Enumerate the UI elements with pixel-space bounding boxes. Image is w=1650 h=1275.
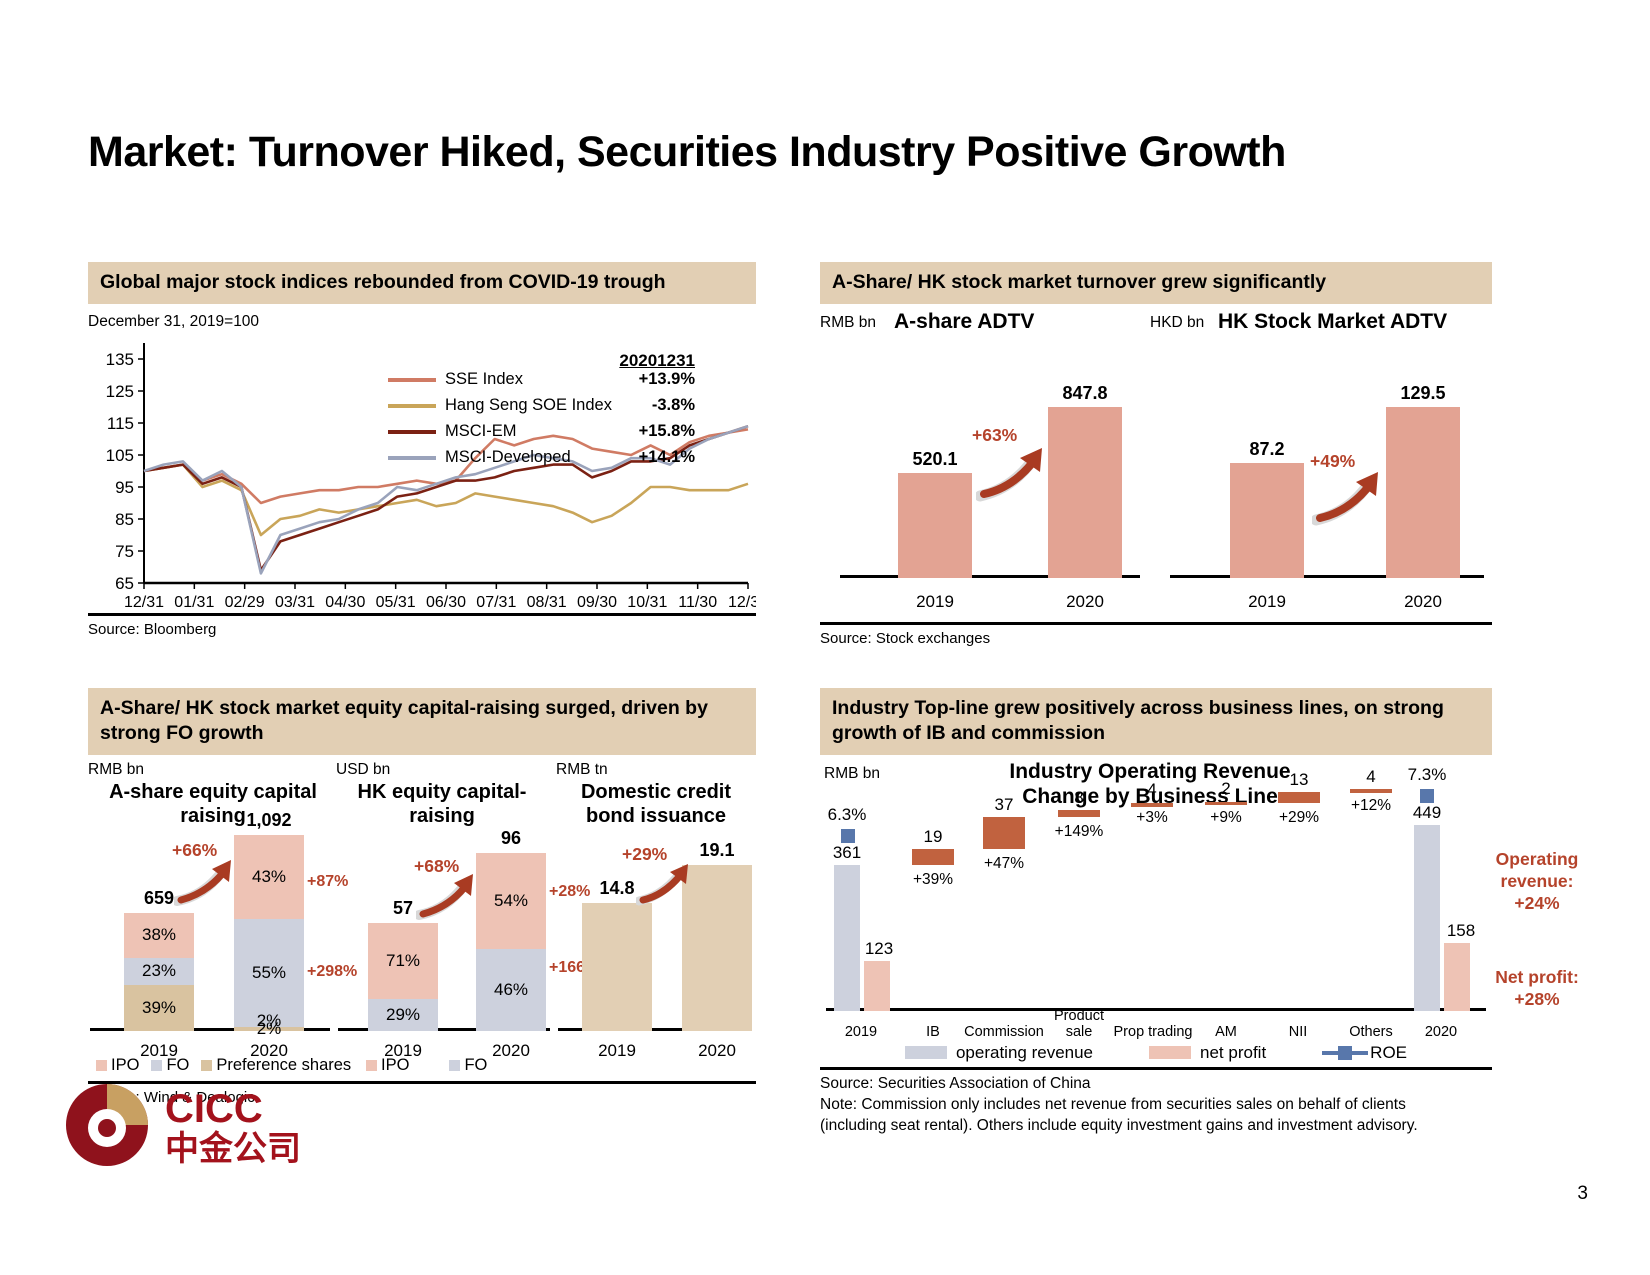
- growth-arrow-icon: [976, 444, 1048, 502]
- panel-industry-topline: Industry Top-line grew positively across…: [820, 688, 1492, 1137]
- bar-delta-product-sale: [1058, 810, 1100, 817]
- svg-text:05/31: 05/31: [376, 594, 416, 611]
- svg-text:CICC: CICC: [165, 1087, 263, 1131]
- panel3-band-title: A-Share/ HK stock market equity capital-…: [88, 688, 756, 755]
- svg-text:105: 105: [106, 446, 134, 465]
- legend-value-sse: +13.9%: [623, 370, 695, 389]
- label-delta-ib: 19: [908, 827, 958, 847]
- legend-item-ipo: IPO: [96, 1056, 139, 1075]
- label-2019-operating-revenue: 361: [822, 843, 872, 863]
- x-category-2019: 2019: [898, 592, 972, 612]
- legend-swatch-sse: [388, 378, 436, 382]
- chart-a-share-adtv: RMB bn A-share ADTV 520.1 847.8 +63% 201…: [820, 304, 1150, 622]
- legend-swatch-fo: [151, 1060, 162, 1071]
- segment-label-preference-2020: 2%: [234, 1011, 304, 1031]
- x-category-2020: 2020: [1408, 1024, 1474, 1041]
- x-category-commission: Commission: [964, 1024, 1044, 1041]
- label-2020-net-profit: 158: [1436, 921, 1486, 941]
- unit-label-rmb-bn: RMB bn: [820, 314, 876, 332]
- legend-swatch-hang-seng: [388, 404, 436, 408]
- unit-label-rmb-tn: RMB tn: [556, 761, 608, 779]
- svg-text:12/31: 12/31: [728, 594, 756, 611]
- svg-text:03/31: 03/31: [275, 594, 315, 611]
- bar-2020: [1048, 407, 1122, 578]
- segment-fo: 29%: [368, 999, 438, 1031]
- bar-2019: [582, 903, 652, 1031]
- legend-swatch-ipo: [366, 1060, 377, 1071]
- svg-text:10/31: 10/31: [627, 594, 667, 611]
- svg-text:09/30: 09/30: [577, 594, 617, 611]
- svg-text:125: 125: [106, 382, 134, 401]
- line-chart: 65758595105115125135 12/3101/3102/2903/3…: [88, 331, 756, 613]
- legend-row: MSCI-EM +15.8%: [388, 419, 695, 445]
- panel2-charts: RMB bn A-share ADTV 520.1 847.8 +63% 201…: [820, 304, 1492, 622]
- annotation-net-profit: Net profit: +28%: [1472, 967, 1602, 1011]
- svg-text:02/29: 02/29: [225, 594, 265, 611]
- chart-title-hk-capital-raising: HK equity capital-raising: [342, 781, 542, 828]
- annotation-np-line1: Net profit:: [1472, 967, 1602, 989]
- legend-label-hang-seng: Hang Seng SOE Index: [445, 396, 623, 415]
- waterfall-plot: 6.3% 361 123 19 +39% 37 +47% 8 +149% 4 +…: [820, 791, 1492, 1055]
- chart-hk-capital-raising: USD bn HK equity capital-raising 71% 29%…: [336, 755, 556, 1073]
- legend-value-msci-dev: +14.1%: [623, 448, 695, 467]
- unit-label-hkd-bn: HKD bn: [1150, 314, 1204, 332]
- unit-label-rmb-bn: RMB bn: [824, 765, 880, 783]
- panel4-note-line1: Note: Commission only includes net reven…: [820, 1095, 1492, 1116]
- bar-2019-operating-revenue: [834, 865, 860, 1011]
- legend-label-msci-dev: MSCI-Developed: [445, 448, 623, 467]
- bar-delta-prop-trading: [1131, 803, 1173, 807]
- svg-text:75: 75: [115, 542, 134, 561]
- chart-domestic-bond-issuance: RMB tn Domestic credit bond issuance 14.…: [556, 755, 756, 1073]
- legend-swatch-msci-em: [388, 430, 436, 434]
- bar-2020: [1386, 407, 1460, 578]
- stacked-bar-2019: 38% 23% 39%: [124, 913, 194, 1031]
- x-category-2019: 2019: [1230, 592, 1304, 612]
- growth-arrow-icon: [416, 871, 478, 921]
- stacked-bar-2019: 71% 29%: [368, 923, 438, 1031]
- segment-ipo: 43%: [234, 835, 304, 919]
- panel1-band-title: Global major stock indices rebounded fro…: [88, 262, 756, 304]
- annotation-op-line3: +24%: [1472, 893, 1602, 915]
- x-category-product-sale: Productsale: [1045, 1008, 1113, 1041]
- panel2-band-title: A-Share/ HK stock market turnover grew s…: [820, 262, 1492, 304]
- bar-2020: [682, 865, 752, 1031]
- svg-text:95: 95: [115, 478, 134, 497]
- svg-text:06/30: 06/30: [426, 594, 466, 611]
- annotation-operating-revenue: Operating revenue: +24%: [1472, 849, 1602, 915]
- svg-text:08/31: 08/31: [527, 594, 567, 611]
- growth-arrow-icon: [636, 861, 692, 907]
- chart-hk-adtv: HKD bn HK Stock Market ADTV 87.2 129.5 +…: [1150, 304, 1492, 622]
- x-category-am: AM: [1196, 1024, 1256, 1041]
- svg-text:135: 135: [106, 350, 134, 369]
- svg-text:115: 115: [107, 414, 134, 433]
- growth-delta-prop-trading: +3%: [1122, 809, 1182, 827]
- svg-text:65: 65: [115, 574, 134, 593]
- bar-2019-net-profit: [864, 961, 890, 1011]
- legend-item-fo: FO: [449, 1056, 487, 1075]
- legend-swatch-msci-dev: [388, 456, 436, 460]
- chart-title-a-share-adtv: A-share ADTV: [894, 310, 1034, 334]
- legend-label-sse: SSE Index: [445, 370, 623, 389]
- growth-delta-am: +9%: [1196, 809, 1256, 827]
- bar-label-2020: 129.5: [1386, 383, 1460, 404]
- growth-delta-product-sale: +149%: [1048, 823, 1110, 841]
- legend-item-preference-shares: Preference shares: [201, 1056, 351, 1075]
- panel-capital-raising: A-Share/ HK stock market equity capital-…: [88, 688, 756, 1106]
- bar-label-2019: 520.1: [898, 449, 972, 470]
- x-category-2019: 2019: [582, 1041, 652, 1061]
- legend-row: MSCI-Developed +14.1%: [388, 445, 695, 471]
- page-number: 3: [1577, 1183, 1588, 1205]
- segment-fo: 46%: [476, 949, 546, 1031]
- label-delta-others: 4: [1346, 767, 1396, 787]
- page-title: Market: Turnover Hiked, Securities Indus…: [88, 128, 1286, 177]
- legend-header: 20201231: [619, 351, 695, 371]
- bar-delta-nii: [1278, 792, 1320, 803]
- label-2020-roe: 7.3%: [1394, 765, 1460, 785]
- legend-item-ipo: IPO: [366, 1056, 409, 1075]
- growth-delta-others: +12%: [1341, 797, 1401, 815]
- bar-2019: [1230, 463, 1304, 578]
- segment-ipo: 54%: [476, 853, 546, 949]
- legend-hk: IPO FO: [366, 1056, 487, 1075]
- x-category-ib: IB: [903, 1024, 963, 1041]
- segment-ipo: 71%: [368, 923, 438, 999]
- annotation-op-line1: Operating: [1472, 849, 1602, 871]
- label-2019-net-profit: 123: [854, 939, 904, 959]
- x-category-prop-trading: Prop trading: [1113, 1024, 1193, 1041]
- panel4-band-title: Industry Top-line grew positively across…: [820, 688, 1492, 755]
- svg-text:11/30: 11/30: [678, 594, 717, 611]
- stacked-bar-2020: 43% 55% 2%: [234, 835, 304, 1031]
- total-label-2020: 96: [476, 828, 546, 849]
- panel-global-indices: Global major stock indices rebounded fro…: [88, 262, 756, 638]
- label-delta-prop-trading: 4: [1127, 780, 1177, 800]
- growth-delta-ib: +39%: [903, 871, 963, 889]
- legend-label-fo: FO: [166, 1056, 189, 1075]
- legend-value-msci-em: +15.8%: [623, 422, 695, 441]
- legend-swatch-ipo: [96, 1060, 107, 1071]
- slide-root: Market: Turnover Hiked, Securities Indus…: [0, 0, 1650, 1275]
- svg-text:07/31: 07/31: [476, 594, 516, 611]
- unit-label-usd-bn: USD bn: [336, 761, 390, 779]
- legend-label-ipo: IPO: [381, 1056, 409, 1075]
- legend-label-msci-em: MSCI-EM: [445, 422, 623, 441]
- unit-label-rmb-bn: RMB bn: [88, 761, 144, 779]
- panel2-source: Source: Stock exchanges: [820, 625, 1492, 647]
- legend-label-ipo: IPO: [111, 1056, 139, 1075]
- annotation-op-line2: revenue:: [1472, 871, 1602, 893]
- panel1-source: Source: Bloomberg: [88, 616, 756, 638]
- x-category-nii: NII: [1268, 1024, 1328, 1041]
- panel1-axis-note: December 31, 2019=100: [88, 313, 756, 331]
- growth-arrow-icon: [174, 857, 236, 907]
- svg-text:85: 85: [115, 510, 134, 529]
- legend-label-fo: FO: [464, 1056, 487, 1075]
- panel-turnover: A-Share/ HK stock market turnover grew s…: [820, 262, 1492, 647]
- legend-swatch-preference-shares: [201, 1060, 212, 1071]
- bar-delta-ib: [912, 849, 954, 865]
- x-category-others: Others: [1338, 1024, 1404, 1041]
- bar-label-2020: 847.8: [1048, 383, 1122, 404]
- legend-a-share: IPO FO Preference shares: [96, 1056, 351, 1075]
- svg-text:01/31: 01/31: [174, 594, 214, 611]
- svg-text:中金公司: 中金公司: [165, 1129, 301, 1166]
- legend-swatch-roe: [1322, 1046, 1368, 1060]
- cicc-logo: CICC 中金公司: [62, 1080, 362, 1166]
- bar-2019: [898, 473, 972, 578]
- growth-arrow-icon: [1312, 468, 1384, 526]
- bar-2020-operating-revenue: [1414, 825, 1440, 1011]
- roe-marker-2020: [1420, 789, 1434, 803]
- x-category-2020: 2020: [1386, 592, 1460, 612]
- chart-a-share-capital-raising: RMB bn A-share equity capital raising 38…: [88, 755, 336, 1073]
- panel4-chart: RMB bn Industry Operating Revenue Change…: [820, 755, 1492, 1055]
- panel4-note-line2: (including seat rental). Others include …: [820, 1116, 1492, 1137]
- growth-delta-commission: +47%: [974, 855, 1034, 873]
- segment-ipo: 38%: [124, 913, 194, 958]
- label-2020-operating-revenue: 449: [1402, 803, 1452, 823]
- panel4-source: Source: Securities Association of China: [820, 1070, 1492, 1095]
- label-delta-nii: 13: [1274, 770, 1324, 790]
- legend-row: Hang Seng SOE Index -3.8%: [388, 393, 695, 419]
- growth-annotation: +63%: [972, 425, 1017, 446]
- bar-label-2019: 87.2: [1230, 439, 1304, 460]
- line-chart-legend: 20201231 SSE Index +13.9% Hang Seng SOE …: [388, 353, 695, 471]
- legend-swatch-fo: [449, 1060, 460, 1071]
- bar-delta-others: [1350, 789, 1392, 793]
- legend-label-preference-shares: Preference shares: [216, 1056, 351, 1075]
- roe-marker-2019: [841, 829, 855, 843]
- total-label-2020: 1,092: [234, 810, 304, 831]
- bar-label-2020: 19.1: [682, 840, 752, 861]
- annotation-np-line2: +28%: [1472, 989, 1602, 1011]
- x-category-2020: 2020: [682, 1041, 752, 1061]
- label-2019-roe: 6.3%: [814, 805, 880, 825]
- growth-delta-nii: +29%: [1269, 809, 1329, 827]
- bar-delta-commission: [983, 817, 1025, 849]
- svg-text:12/31: 12/31: [124, 594, 164, 611]
- legend-value-hang-seng: -3.8%: [623, 396, 695, 415]
- panel3-charts: RMB bn A-share equity capital raising 38…: [88, 755, 756, 1073]
- chart-title-domestic-bond-issuance: Domestic credit bond issuance: [556, 781, 756, 828]
- segment-fo: 23%: [124, 958, 194, 985]
- bar-2020-net-profit: [1444, 943, 1470, 1011]
- axis-line: [826, 1008, 1486, 1011]
- legend-item-fo: FO: [151, 1056, 189, 1075]
- segment-preference-shares: 39%: [124, 985, 194, 1031]
- x-category-2020: 2020: [1048, 592, 1122, 612]
- chart-title-hk-adtv: HK Stock Market ADTV: [1218, 310, 1447, 334]
- label-delta-commission: 37: [979, 795, 1029, 815]
- svg-text:04/30: 04/30: [325, 594, 365, 611]
- bar-delta-am: [1205, 802, 1247, 805]
- label-delta-am: 2: [1201, 779, 1251, 799]
- stacked-bar-2020: 54% 46%: [476, 853, 546, 1031]
- label-delta-product-sale: 8: [1054, 788, 1104, 808]
- x-category-2019: 2019: [826, 1024, 896, 1041]
